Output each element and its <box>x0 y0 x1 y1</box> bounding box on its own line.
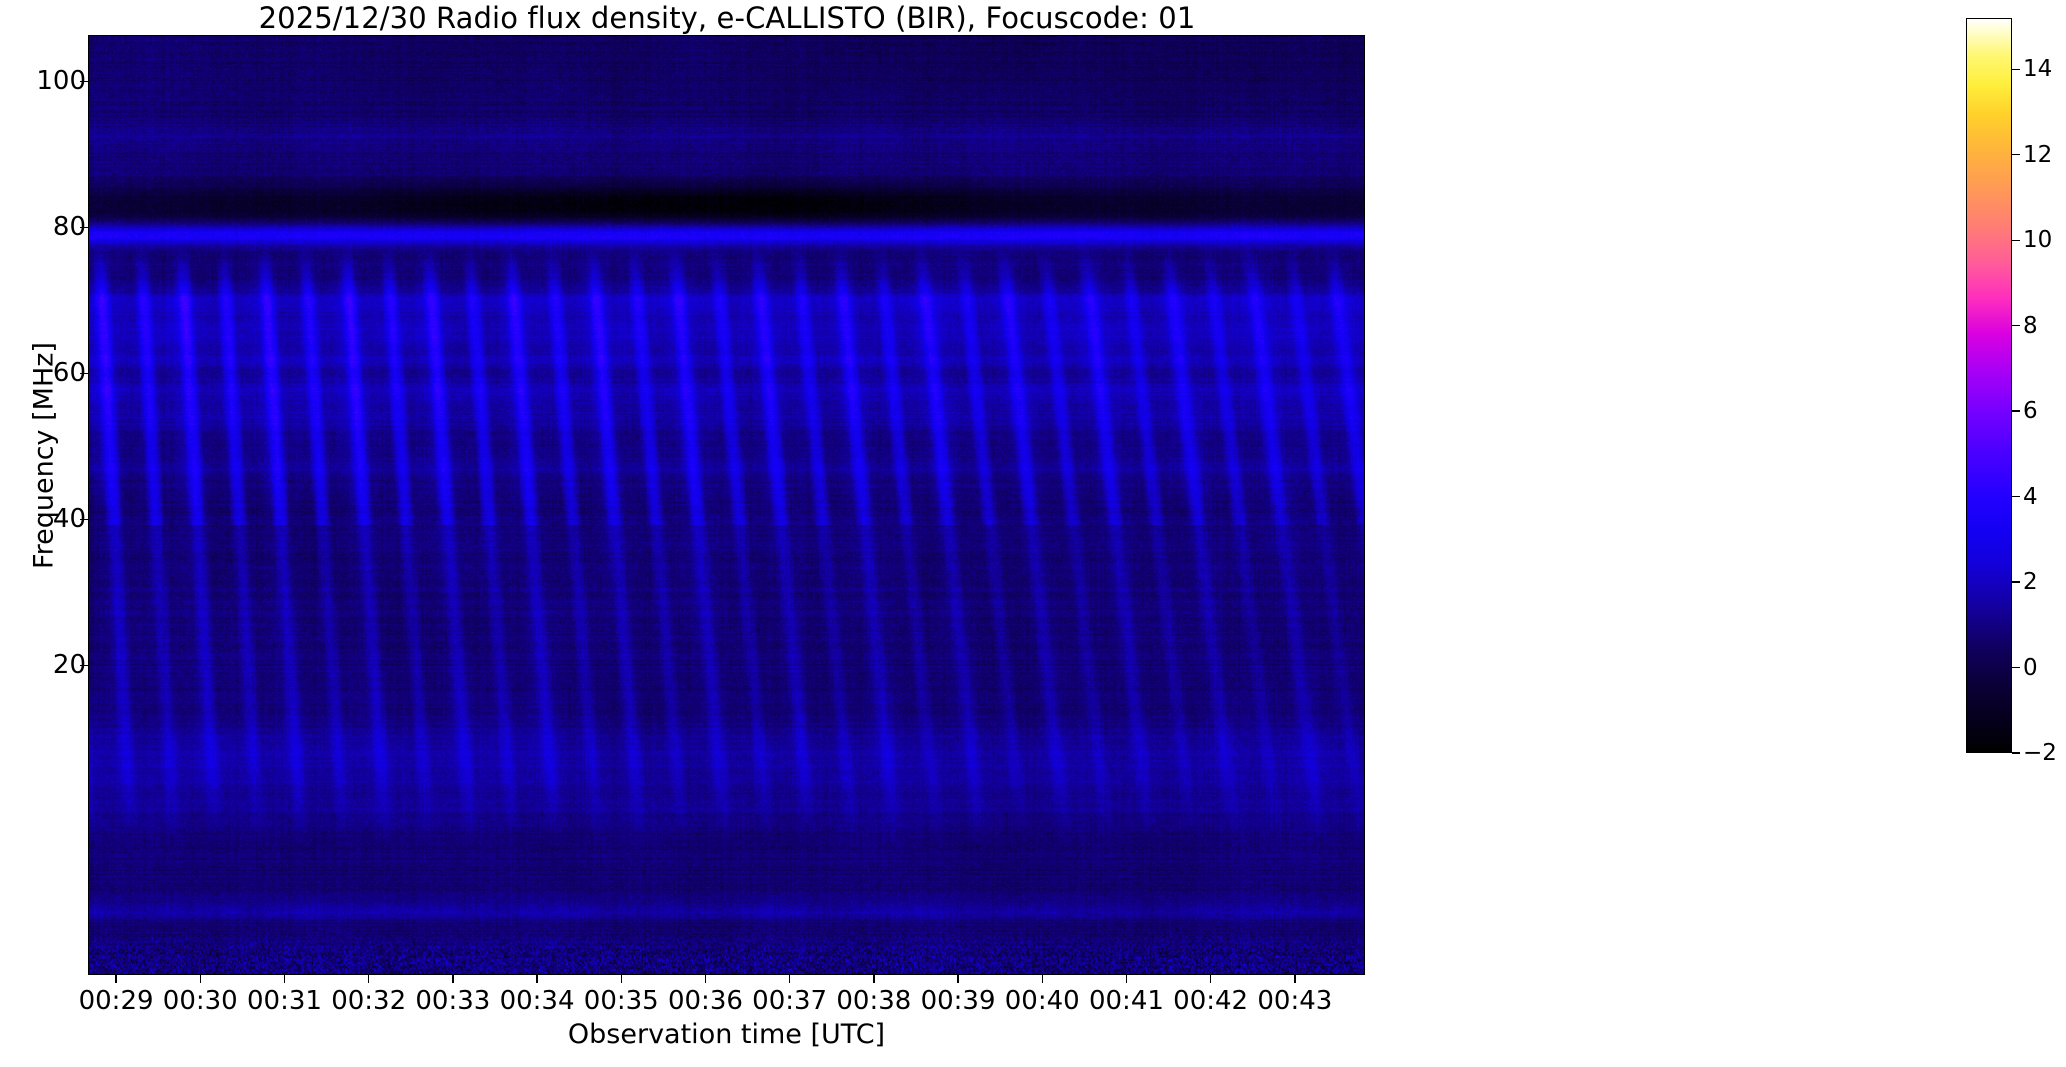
x-axis-label: Observation time [UTC] <box>88 1019 1365 1050</box>
colorbar-tick-label: 6 <box>2023 400 2038 423</box>
x-tick-mark <box>705 975 706 983</box>
colorbar-tick-mark <box>2012 325 2020 326</box>
colorbar-tick-label: 8 <box>2023 315 2038 338</box>
x-tick-mark <box>957 975 958 983</box>
x-tick-mark <box>284 975 285 983</box>
x-tick-mark <box>368 975 369 983</box>
x-tick-label: 00:43 <box>1225 986 1365 1016</box>
colorbar-tick-mark <box>2012 410 2020 411</box>
x-tick-mark <box>200 975 201 983</box>
colorbar-tick-mark <box>2012 154 2020 155</box>
colorbar-tick-label: 4 <box>2023 486 2038 509</box>
x-tick-mark <box>452 975 453 983</box>
colorbar-tick-label: 0 <box>2023 657 2038 680</box>
figure-title: 2025/12/30 Radio flux density, e-CALLIST… <box>88 2 1366 34</box>
x-tick-mark <box>1126 975 1127 983</box>
spectrogram-image <box>89 36 1364 974</box>
x-tick-mark <box>1294 975 1295 983</box>
colorbar-tick-label: 12 <box>2023 144 2052 167</box>
colorbar[interactable] <box>1966 18 2012 753</box>
colorbar-tick-mark <box>2012 69 2020 70</box>
y-tick-label: 100 <box>36 68 86 94</box>
colorbar-tick-mark <box>2012 667 2020 668</box>
colorbar-tick-mark <box>2012 240 2020 241</box>
colorbar-tick-label: 14 <box>2023 58 2052 81</box>
colorbar-tick-label: 10 <box>2023 229 2052 252</box>
colorbar-tick-label: −2 <box>2023 742 2057 765</box>
y-axis-label: Frequency [MHz] <box>29 156 60 756</box>
x-tick-mark <box>1042 975 1043 983</box>
x-tick-mark <box>1210 975 1211 983</box>
colorbar-tick-mark <box>2012 581 2020 582</box>
x-tick-mark <box>536 975 537 983</box>
colorbar-tick-mark <box>2012 496 2020 497</box>
figure-canvas: 2025/12/30 Radio flux density, e-CALLIST… <box>0 0 2066 1067</box>
x-tick-mark <box>789 975 790 983</box>
spectrogram-axes[interactable] <box>88 35 1365 975</box>
colorbar-tick-mark <box>2012 752 2020 753</box>
x-tick-mark <box>621 975 622 983</box>
colorbar-gradient <box>1967 19 2011 752</box>
x-tick-mark <box>873 975 874 983</box>
x-tick-mark <box>115 975 116 983</box>
colorbar-tick-label: 2 <box>2023 571 2038 594</box>
